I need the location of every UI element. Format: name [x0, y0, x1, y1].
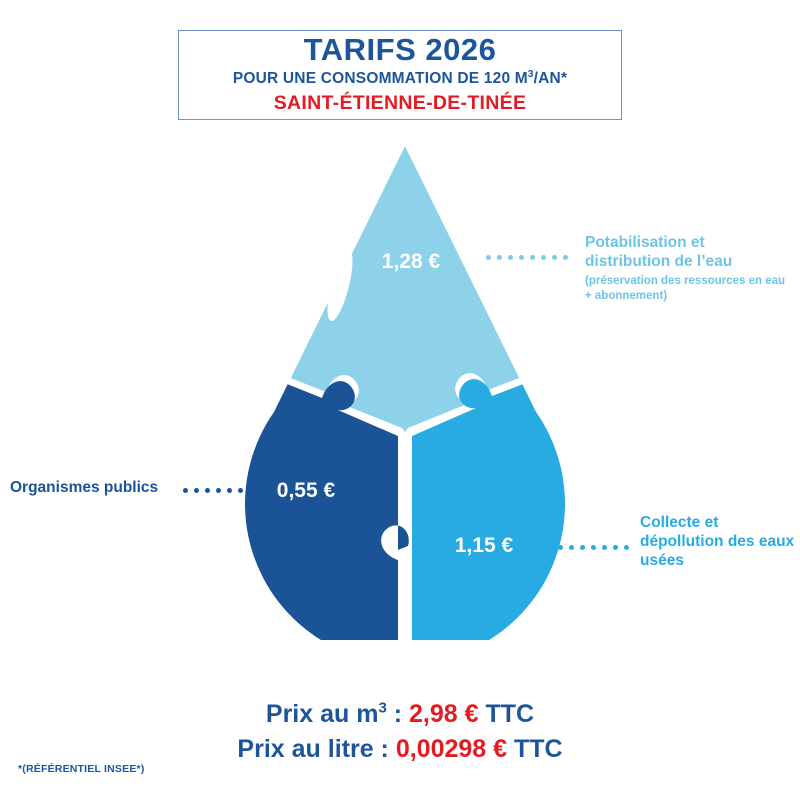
callout-potabilisation: Potabilisation et distribution de l’eau … [585, 234, 790, 304]
price-m3-label-pre: Prix au m [266, 700, 379, 728]
leader-dot [194, 488, 199, 493]
price-m3-exponent: 3 [378, 700, 386, 717]
leader-dot [216, 488, 221, 493]
leader-dot [547, 545, 552, 550]
callout-potabilisation-note: (préservation des ressources en eau + ab… [585, 274, 790, 304]
leader-dot [558, 545, 563, 550]
price-m3-amount: 2,98 € [409, 700, 479, 728]
price-litre-amount: 0,00298 € [396, 735, 507, 763]
leader-dot [569, 545, 574, 550]
callout-potabilisation-label: Potabilisation et distribution de l’eau [585, 234, 790, 272]
leader-line-potabilisation [486, 255, 568, 260]
value-organismes: 0,55 € [277, 479, 336, 502]
leader-dot [541, 255, 546, 260]
price-per-litre: Prix au litre : 0,00298 € TTC [0, 732, 800, 767]
leader-dot [227, 488, 232, 493]
leader-dot [591, 545, 596, 550]
subtitle-text-post: /AN* [534, 70, 568, 87]
callout-organismes: Organismes publics [10, 479, 180, 498]
leader-dot [486, 255, 491, 260]
leader-dot [497, 255, 502, 260]
leader-dot [563, 255, 568, 260]
city-name: SAINT-ÉTIENNE-DE-TINÉE [274, 92, 527, 115]
price-litre-label: Prix au litre : [237, 735, 395, 763]
leader-dot [580, 545, 585, 550]
droplet-svg: 1,28 € 0,55 € 1,15 € [230, 140, 580, 640]
leader-dot [238, 488, 243, 493]
leader-dot [602, 545, 607, 550]
footnote: *(RÉFÉRENTIEL INSEE*) [18, 763, 145, 775]
leader-line-collecte [547, 545, 629, 550]
price-litre-suffix: TTC [507, 735, 563, 763]
water-droplet-puzzle-chart: 1,28 € 0,55 € 1,15 € [230, 140, 580, 640]
callout-collecte-label: Collecte et dépollution des eaux usées [640, 514, 800, 571]
value-potabilisation: 1,28 € [382, 250, 441, 273]
price-m3-suffix: TTC [479, 700, 535, 728]
price-summary: Prix au m3 : 2,98 € TTC Prix au litre : … [0, 697, 800, 766]
callout-collecte: Collecte et dépollution des eaux usées [640, 514, 800, 571]
price-m3-label-post: : [387, 700, 409, 728]
leader-line-organismes [183, 488, 243, 493]
subtitle-text-pre: POUR UNE CONSOMMATION DE 120 M [233, 70, 528, 87]
leader-dot [508, 255, 513, 260]
title-box: TARIFS 2026 POUR UNE CONSOMMATION DE 120… [178, 30, 622, 120]
leader-dot [530, 255, 535, 260]
leader-dot [552, 255, 557, 260]
price-per-m3: Prix au m3 : 2,98 € TTC [0, 697, 800, 732]
consumption-subtitle: POUR UNE CONSOMMATION DE 120 M3/AN* [233, 69, 567, 89]
callout-organismes-label: Organismes publics [10, 479, 180, 498]
leader-dot [624, 545, 629, 550]
value-collecte: 1,15 € [455, 534, 514, 557]
leader-dot [613, 545, 618, 550]
leader-dot [205, 488, 210, 493]
page-title: TARIFS 2026 [304, 34, 497, 67]
leader-dot [183, 488, 188, 493]
leader-dot [519, 255, 524, 260]
